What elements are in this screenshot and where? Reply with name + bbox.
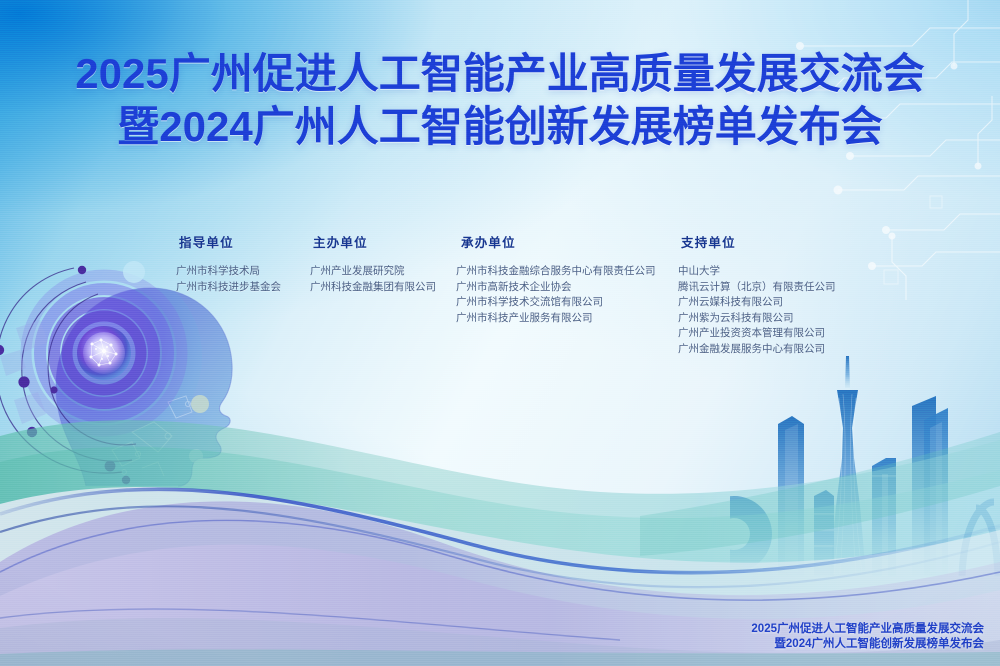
event-title: 2025广州促进人工智能产业高质量发展交流会 暨2024广州人工智能创新发展榜单… <box>0 52 1000 149</box>
org-column-heading: 支持单位 <box>681 232 836 251</box>
org-column-heading: 指导单位 <box>179 232 281 251</box>
footer-mark-line-2: 暨2024广州人工智能创新发展榜单发布会 <box>751 637 984 652</box>
org-column-organizers: 承办单位 广州市科技金融综合服务中心有限责任公司 广州市高新技术企业协会 广州市… <box>456 232 656 326</box>
org-item: 广州金融发展服务中心有限公司 <box>678 342 836 358</box>
org-column-heading: 承办单位 <box>461 232 656 251</box>
org-column-hosts: 主办单位 广州产业发展研究院 广州科技金融集团有限公司 <box>310 232 436 295</box>
org-column-guidance: 指导单位 广州市科学技术局 广州市科技进步基金会 <box>176 232 281 295</box>
footer-mark-line-1: 2025广州促进人工智能产业高质量发展交流会 <box>751 622 984 637</box>
org-item: 广州市科技产业服务有限公司 <box>456 311 656 327</box>
org-column-supporters: 支持单位 中山大学 腾讯云计算（北京）有限责任公司 广州云媒科技有限公司 广州紫… <box>678 232 836 357</box>
organization-columns: 指导单位 广州市科学技术局 广州市科技进步基金会 主办单位 广州产业发展研究院 … <box>0 232 1000 402</box>
org-item: 广州市科学技术交流馆有限公司 <box>456 295 656 311</box>
org-item: 腾讯云计算（北京）有限责任公司 <box>678 280 836 296</box>
org-item: 广州紫为云科技有限公司 <box>678 311 836 327</box>
org-item: 广州科技金融集团有限公司 <box>310 280 436 296</box>
org-item: 中山大学 <box>678 264 836 280</box>
org-item: 广州市科技进步基金会 <box>176 280 281 296</box>
org-column-heading: 主办单位 <box>313 232 436 251</box>
event-title-line-1: 2025广州促进人工智能产业高质量发展交流会 <box>0 52 1000 97</box>
org-item: 广州云媒科技有限公司 <box>678 295 836 311</box>
org-item: 广州市科学技术局 <box>176 264 281 280</box>
org-item: 广州市科技金融综合服务中心有限责任公司 <box>456 264 656 280</box>
org-item: 广州市高新技术企业协会 <box>456 280 656 296</box>
org-item: 广州产业发展研究院 <box>310 264 436 280</box>
org-item: 广州产业投资资本管理有限公司 <box>678 326 836 342</box>
presentation-backdrop: 2025广州促进人工智能产业高质量发展交流会 暨2024广州人工智能创新发展榜单… <box>0 0 1000 666</box>
event-title-line-2: 暨2024广州人工智能创新发展榜单发布会 <box>0 105 1000 150</box>
footer-event-mark: 2025广州促进人工智能产业高质量发展交流会 暨2024广州人工智能创新发展榜单… <box>751 622 984 652</box>
